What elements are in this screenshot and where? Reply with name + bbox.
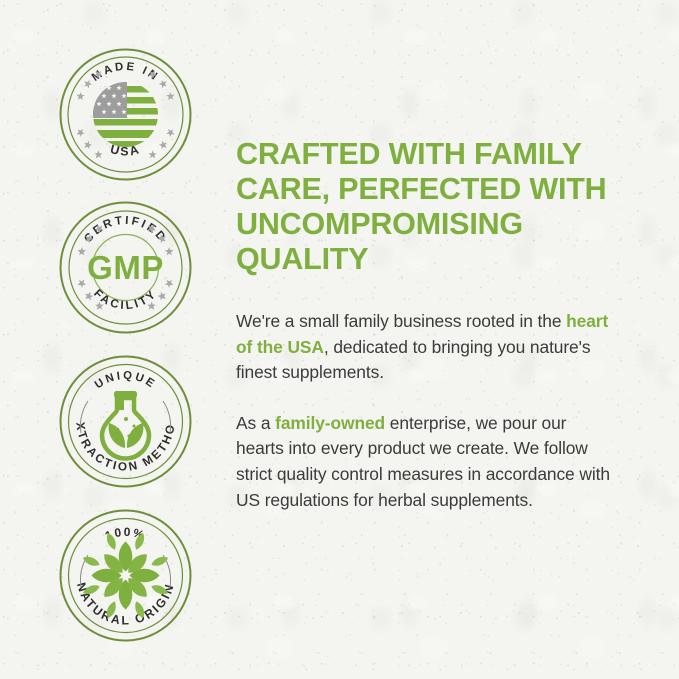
badge-natural-origin: 100% NATURAL ORIGIN <box>57 507 194 644</box>
gmp-label: GMP <box>87 249 164 286</box>
text-content-column: CRAFTED WITH FAMILY CARE, PERFECTED WITH… <box>236 137 610 513</box>
flask-with-leaves-icon <box>102 391 149 459</box>
us-flag-circle-icon <box>87 82 164 173</box>
certification-badge-column: MADE IN USA <box>0 0 222 679</box>
promo-infographic: MADE IN USA <box>0 0 679 679</box>
paragraph-text-segment: As a <box>236 413 275 433</box>
badge-unique-extraction-method: UNIQUE EXTRACTION METHOD <box>57 353 194 490</box>
badge-made-in-usa: MADE IN USA <box>57 46 194 183</box>
highlighted-phrase: family-owned <box>275 413 385 433</box>
page-title: CRAFTED WITH FAMILY CARE, PERFECTED WITH… <box>236 137 610 277</box>
paragraph-text-segment: We're a small family business rooted in … <box>236 311 566 331</box>
paragraph-family-owned: As a family-owned enterprise, we pour ou… <box>236 411 610 513</box>
paragraph-family-business: We're a small family business rooted in … <box>236 309 610 386</box>
badge-gmp-certified-facility: CERTIFIED FACILITY <box>57 199 194 336</box>
svg-text:UNIQUE: UNIQUE <box>93 370 158 392</box>
svg-text:CERTIFIED: CERTIFIED <box>81 214 169 245</box>
